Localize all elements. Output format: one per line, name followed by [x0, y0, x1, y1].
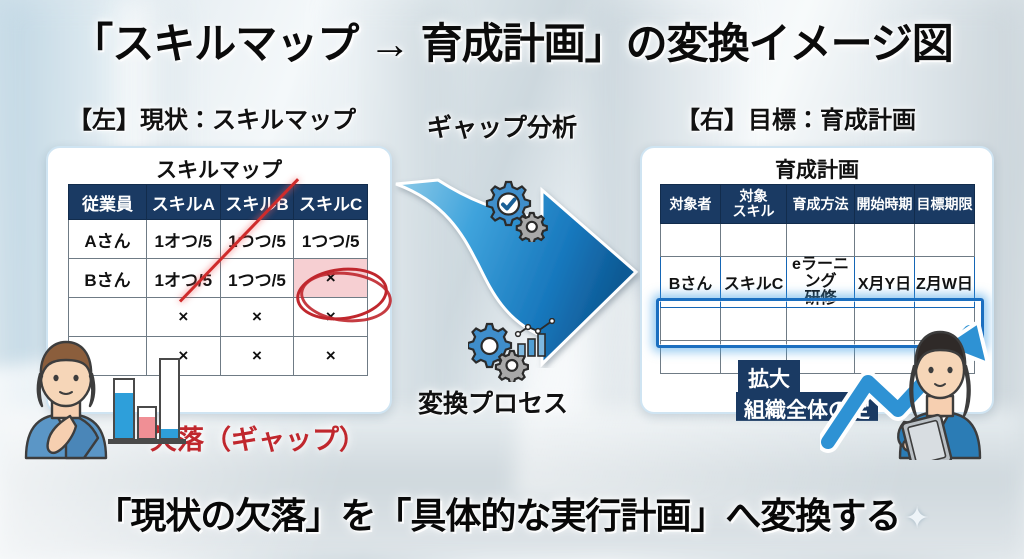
- businesswoman-with-tablet-illustration: [880, 320, 1000, 460]
- method-cell: eラーニング 研修: [787, 257, 855, 308]
- target-skill-cell: スキルC: [721, 257, 787, 308]
- expand-badge: 拡大: [738, 360, 800, 397]
- target-person-cell: [661, 308, 721, 341]
- empty-cell: ×: [147, 298, 221, 337]
- diagram-canvas: 「スキルマップ → 育成計画」の変換イメージ図 【左】現状：スキルマップ 【右】…: [0, 0, 1024, 559]
- skill-map-title: スキルマップ: [48, 154, 390, 184]
- footer-caption: 「現状の欠落」を「具体的な実行計画」へ変換する✦: [0, 487, 1024, 539]
- right-section-label: 【右】目標：育成計画: [676, 100, 916, 135]
- table-row-highlighted: Bさん スキルC eラーニング 研修 X月Y日 Z月W日: [661, 257, 975, 308]
- column-header: スキルB: [220, 185, 294, 220]
- footer-text: 「現状の欠落」を「具体的な実行計画」へ変換する: [95, 495, 900, 536]
- column-header: 従業員: [69, 185, 147, 220]
- method-cell: [787, 224, 855, 257]
- empty-cell: ×: [294, 337, 368, 376]
- table-header-row: 従業員 スキルA スキルB スキルC: [69, 185, 368, 220]
- column-header: スキルA: [147, 185, 221, 220]
- table-row: Aさん 1オつ/5 1つつ/5 1つつ/5: [69, 220, 368, 259]
- gap-analysis-label: ギャップ分析: [427, 108, 577, 144]
- deadline-cell: Z月W日: [915, 257, 975, 308]
- left-section-label: 【左】現状：スキルマップ: [68, 100, 356, 135]
- method-line1: eラーニング: [787, 257, 854, 291]
- skill-level-cell: 1つつ/5: [220, 259, 294, 298]
- column-header: 育成方法: [787, 185, 855, 224]
- column-header: 開始時期: [855, 185, 915, 224]
- target-person-cell: [661, 224, 721, 257]
- conversion-process-label: 変換プロセス: [418, 384, 568, 420]
- page-title: 「スキルマップ → 育成計画」の変換イメージ図: [0, 10, 1024, 71]
- table-header-row: 対象者 対象 スキル 育成方法 開始時期 目標期限: [661, 185, 975, 224]
- method-line2: 研修: [787, 291, 854, 308]
- skill-level-cell: 1つつ/5: [294, 220, 368, 259]
- skill-level-cell: 1オつ/5: [147, 220, 221, 259]
- sparkle-icon: ✦: [904, 502, 928, 535]
- target-skill-cell: [721, 224, 787, 257]
- start-cell: [855, 224, 915, 257]
- column-header-line2: スキル: [721, 204, 786, 219]
- employee-name-cell: Aさん: [69, 220, 147, 259]
- column-header: 対象 スキル: [721, 185, 787, 224]
- gear-check-icon: [480, 178, 550, 242]
- start-cell: X月Y日: [855, 257, 915, 308]
- target-person-cell: Bさん: [661, 257, 721, 308]
- skill-level-cell: 1つつ/5: [220, 220, 294, 259]
- column-header-line1: 対象: [721, 189, 786, 204]
- development-plan-title: 育成計画: [642, 154, 992, 184]
- empty-cell: ×: [220, 298, 294, 337]
- column-header: 目標期限: [915, 185, 975, 224]
- column-header: スキルC: [294, 185, 368, 220]
- deadline-cell: [915, 224, 975, 257]
- skill-level-cell: 1オつ/5: [147, 259, 221, 298]
- table-row: [661, 224, 975, 257]
- target-skill-cell: [721, 308, 787, 341]
- gear-chart-icon: [468, 318, 560, 382]
- empty-cell: ×: [220, 337, 294, 376]
- target-person-cell: [661, 341, 721, 374]
- employee-name-cell: Bさん: [69, 259, 147, 298]
- column-header: 対象者: [661, 185, 721, 224]
- thinking-businesswoman-illustration: [4, 330, 129, 460]
